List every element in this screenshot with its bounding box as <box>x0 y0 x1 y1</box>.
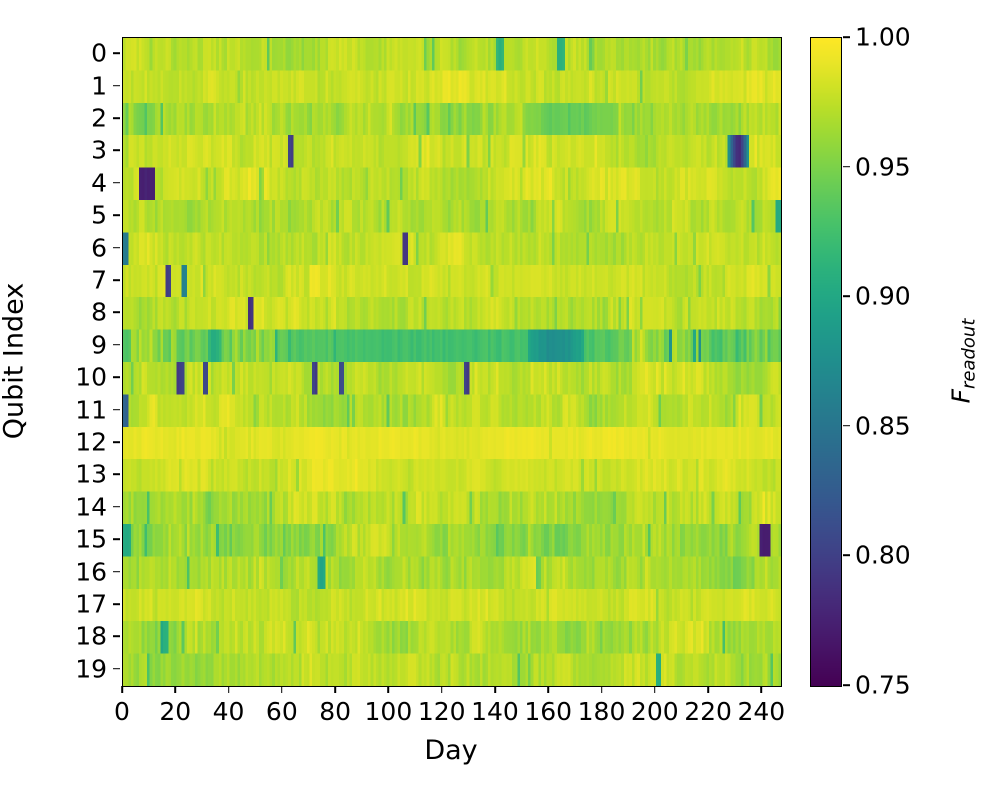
x-tick-label: 20 <box>159 697 191 726</box>
colorbar[interactable] <box>810 37 842 687</box>
y-tick-label: 14 <box>0 492 107 521</box>
y-tick-mark <box>113 214 120 216</box>
y-tick-label: 3 <box>0 136 107 165</box>
colorbar-tick-label: 0.80 <box>855 541 911 570</box>
x-tick-mark <box>654 686 656 693</box>
y-tick-mark <box>113 474 120 476</box>
colorbar-label: Freadout <box>946 319 979 404</box>
y-tick-mark <box>113 571 120 573</box>
y-tick-mark <box>113 182 120 184</box>
colorbar-tick-mark <box>843 684 850 686</box>
colorbar-label-main: F <box>946 389 975 403</box>
y-tick-mark <box>113 506 120 508</box>
x-tick-mark <box>707 686 709 693</box>
colorbar-tick-mark <box>843 166 850 168</box>
y-tick-mark <box>113 52 120 54</box>
x-tick-label: 240 <box>737 697 785 726</box>
y-tick-mark <box>113 150 120 152</box>
y-tick-mark <box>113 344 120 346</box>
x-tick-mark <box>494 686 496 693</box>
y-tick-mark <box>113 441 120 443</box>
x-tick-label: 40 <box>213 697 245 726</box>
colorbar-tick-label: 0.85 <box>855 411 911 440</box>
colorbar-tick-mark <box>843 295 850 297</box>
y-tick-label: 17 <box>0 590 107 619</box>
y-axis-label: Qubit Index <box>0 283 30 440</box>
y-tick-mark <box>113 85 120 87</box>
y-tick-label: 0 <box>0 39 107 68</box>
x-tick-mark <box>174 686 176 693</box>
y-tick-mark <box>113 538 120 540</box>
x-tick-label: 100 <box>365 697 413 726</box>
y-tick-label: 15 <box>0 525 107 554</box>
x-tick-label: 80 <box>319 697 351 726</box>
y-tick-mark <box>113 312 120 314</box>
y-tick-mark <box>113 247 120 249</box>
x-tick-mark <box>334 686 336 693</box>
x-tick-label: 180 <box>578 697 626 726</box>
x-tick-label: 200 <box>631 697 679 726</box>
x-tick-mark <box>228 686 230 693</box>
x-tick-mark <box>121 686 123 693</box>
x-tick-mark <box>601 686 603 693</box>
y-tick-mark <box>113 603 120 605</box>
x-tick-label: 160 <box>524 697 572 726</box>
y-tick-mark <box>113 636 120 638</box>
y-tick-label: 1 <box>0 71 107 100</box>
figure-canvas: 012345678910111213141516171819 Qubit Ind… <box>0 0 1000 800</box>
x-tick-mark <box>388 686 390 693</box>
x-tick-label: 0 <box>114 697 130 726</box>
x-tick-label: 220 <box>684 697 732 726</box>
x-axis-label: Day <box>424 735 477 766</box>
y-tick-label: 19 <box>0 654 107 683</box>
y-tick-label: 18 <box>0 622 107 651</box>
y-tick-label: 13 <box>0 460 107 489</box>
y-tick-mark <box>113 409 120 411</box>
y-tick-label: 4 <box>0 168 107 197</box>
y-tick-mark <box>113 668 120 670</box>
x-tick-mark <box>441 686 443 693</box>
y-tick-label: 16 <box>0 557 107 586</box>
x-tick-mark <box>547 686 549 693</box>
x-tick-label: 120 <box>418 697 466 726</box>
x-tick-label: 140 <box>471 697 519 726</box>
x-tick-mark <box>761 686 763 693</box>
y-tick-mark <box>113 376 120 378</box>
colorbar-tick-mark <box>843 555 850 557</box>
y-tick-label: 5 <box>0 201 107 230</box>
x-tick-label: 60 <box>266 697 298 726</box>
y-tick-label: 2 <box>0 104 107 133</box>
colorbar-tick-label: 0.95 <box>855 152 911 181</box>
colorbar-tick-mark <box>843 425 850 427</box>
y-tick-label: 6 <box>0 233 107 262</box>
colorbar-label-subscript: readout <box>959 319 980 389</box>
colorbar-tick-label: 1.00 <box>855 23 911 52</box>
y-tick-mark <box>113 279 120 281</box>
x-tick-mark <box>281 686 283 693</box>
heatmap-image[interactable] <box>123 38 781 686</box>
colorbar-tick-label: 0.90 <box>855 282 911 311</box>
heatmap-axes[interactable] <box>122 37 782 687</box>
colorbar-tick-label: 0.75 <box>855 671 911 700</box>
colorbar-tick-mark <box>843 36 850 38</box>
y-tick-mark <box>113 117 120 119</box>
colorbar-gradient <box>811 38 841 686</box>
